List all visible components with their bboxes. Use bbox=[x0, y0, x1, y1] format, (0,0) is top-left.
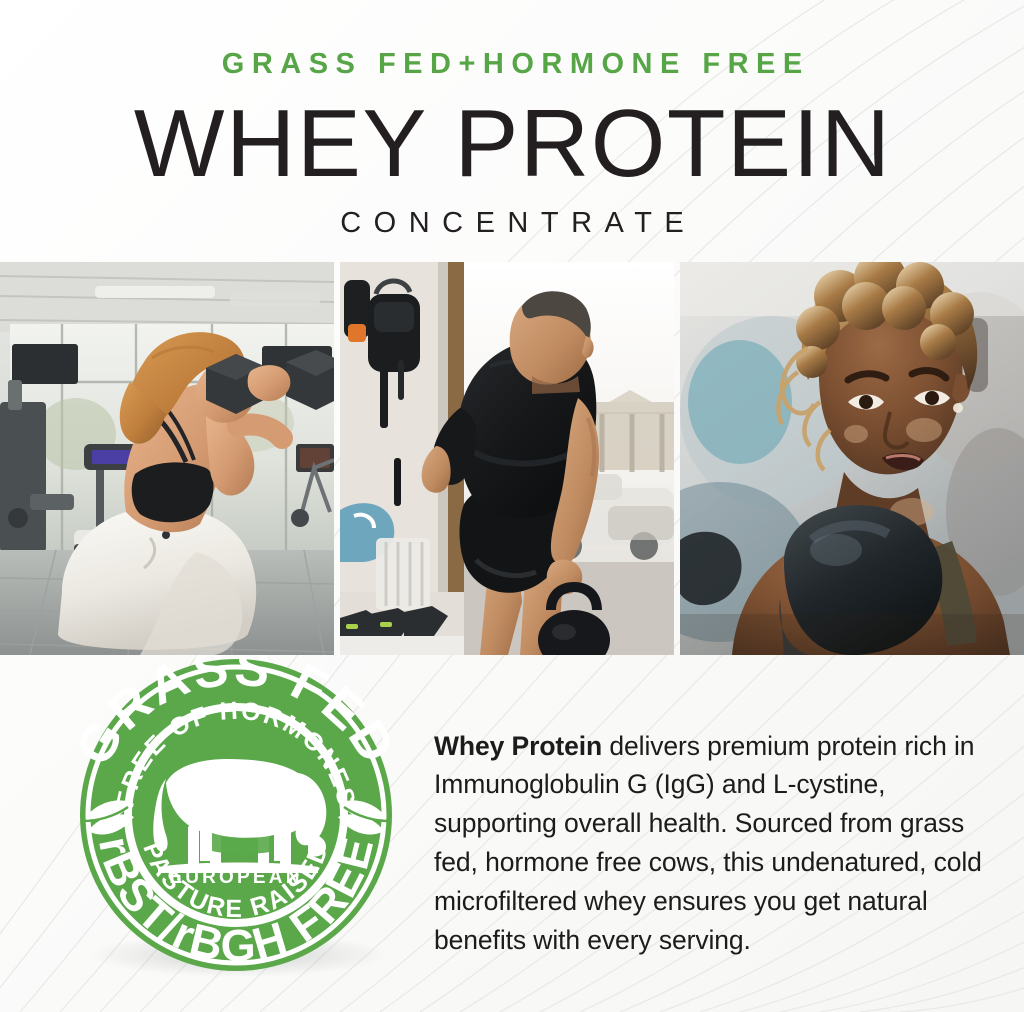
product-description-lead: Whey Protein bbox=[434, 731, 602, 761]
photo-woman-boxing bbox=[680, 262, 1024, 655]
page-subtitle: CONCENTRATE bbox=[0, 193, 1024, 238]
grass-fed-badge: GRASS FED rBST/rBGH FREE FREE OF HORMONE… bbox=[62, 655, 410, 977]
photo-woman-dumbbell-squat bbox=[0, 262, 334, 655]
photo-gallery bbox=[0, 262, 1024, 655]
poster-header: GRASS FED+HORMONE FREE WHEY PROTEIN CONC… bbox=[0, 0, 1024, 262]
product-description: Whey Protein delivers premium protein ri… bbox=[434, 727, 1004, 961]
badge-center-label: EUROPEAN bbox=[169, 867, 302, 888]
page-title: WHEY PROTEIN bbox=[0, 79, 1024, 193]
photo-man-kettlebell-row bbox=[340, 262, 674, 655]
eyebrow-tagline: GRASS FED+HORMONE FREE bbox=[0, 0, 1024, 79]
product-description-rest: delivers premium protein rich in Immunog… bbox=[434, 731, 982, 956]
product-poster: GRASS FED+HORMONE FREE WHEY PROTEIN CONC… bbox=[0, 0, 1024, 1012]
